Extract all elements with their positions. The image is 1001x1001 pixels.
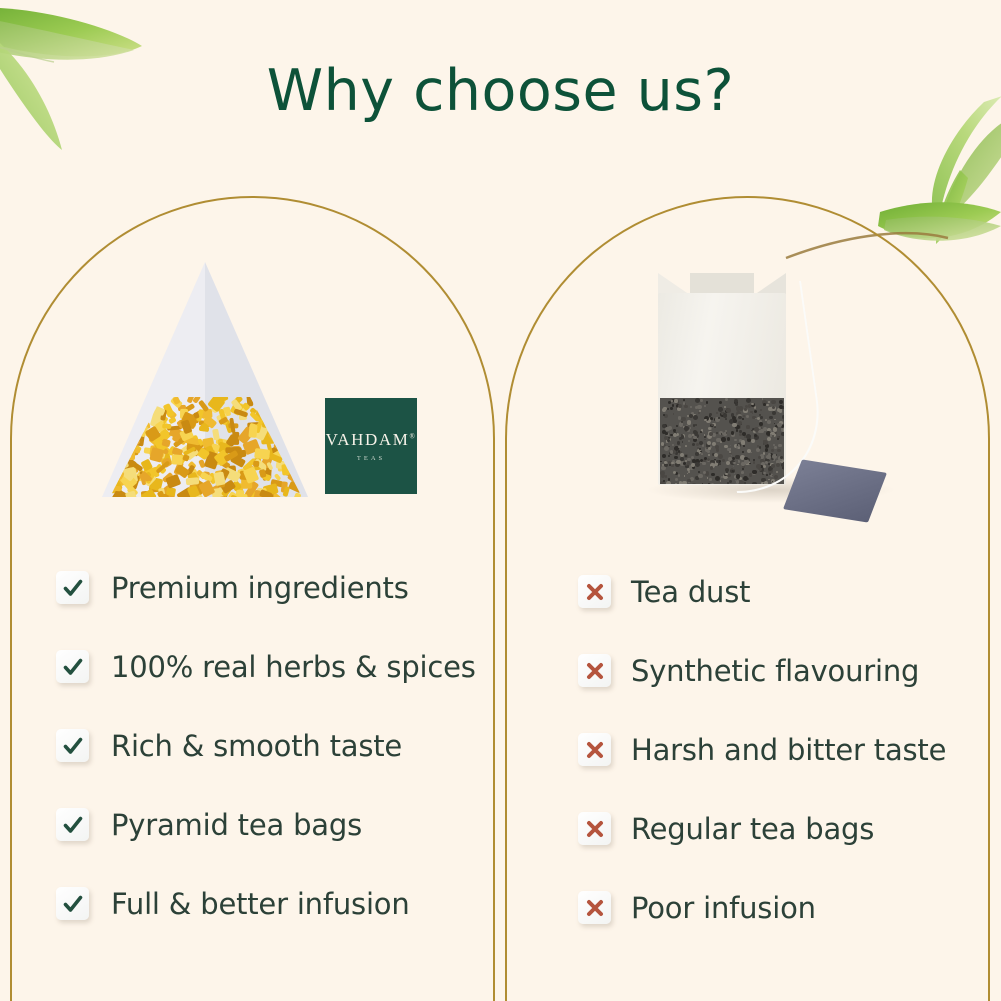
list-item: Harsh and bitter taste [578,710,978,789]
cross-icon [578,891,611,924]
check-icon [56,808,89,841]
list-item: Tea dust [578,552,978,631]
regular-tea-bag-image [610,255,910,520]
list-item-label: Synthetic flavouring [631,654,919,688]
check-icon [56,571,89,604]
list-item-label: Regular tea bags [631,812,874,846]
cross-icon [578,654,611,687]
benefits-list-left: Premium ingredients 100% real herbs & sp… [56,548,476,943]
list-item: Regular tea bags [578,789,978,868]
page-title: Why choose us? [0,58,1001,124]
list-item-label: Harsh and bitter taste [631,733,946,767]
logo-brand-text: VAHDAM [326,430,410,449]
list-item: Premium ingredients [56,548,476,627]
vahdam-logo: VAHDAM® TEAS [325,398,417,494]
list-item: 100% real herbs & spices [56,627,476,706]
list-item: Synthetic flavouring [578,631,978,710]
list-item-label: 100% real herbs & spices [111,650,476,684]
teabag-top-left-fold [658,273,690,295]
list-item-label: Poor infusion [631,891,816,925]
list-item: Poor infusion [578,868,978,947]
list-item-label: Pyramid tea bags [111,808,362,842]
check-icon [56,887,89,920]
check-icon [56,729,89,762]
cross-icon [578,733,611,766]
teabag-paper-tag [783,459,887,522]
logo-registered-mark: ® [410,432,417,440]
logo-tagline: TEAS [357,455,385,462]
list-item: Pyramid tea bags [56,785,476,864]
list-item-label: Rich & smooth taste [111,729,402,763]
cross-icon [578,575,611,608]
list-item: Rich & smooth taste [56,706,476,785]
check-icon [56,650,89,683]
list-item-label: Full & better infusion [111,887,410,921]
logo-wordmark: VAHDAM® [326,430,417,450]
list-item-label: Tea dust [631,575,750,609]
drawbacks-list-right: Tea dust Synthetic flavouring Harsh and … [578,552,978,947]
cross-icon [578,812,611,845]
list-item-label: Premium ingredients [111,571,409,605]
list-item: Full & better infusion [56,864,476,943]
promo-banner: Why choose us? VAHDAM® TEAS Premium ingr… [0,0,1001,1001]
